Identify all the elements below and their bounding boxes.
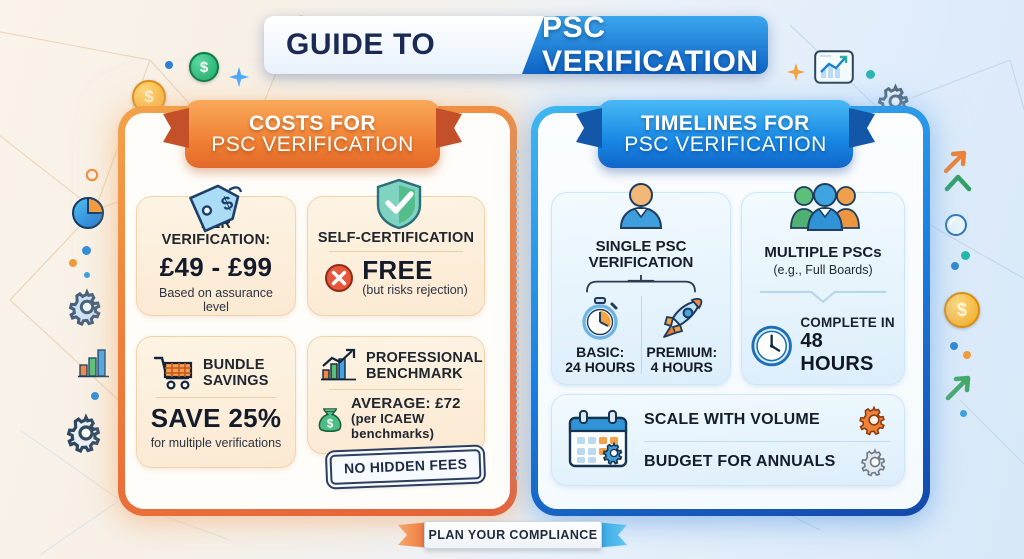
green-dollar-coin-icon: $ [189, 52, 219, 82]
timelines-ribbon: TIMELINES FOR PSC VERIFICATION [598, 100, 853, 168]
basic-label-line1: BASIC: [576, 345, 624, 361]
growth-chart-icon [318, 348, 360, 384]
bundle-savings-sub: for multiple verifications [151, 436, 282, 450]
gray-gear-icon [860, 447, 890, 477]
blue-dot-icon [165, 61, 173, 69]
circle-icon [944, 213, 968, 237]
title-right-segment: PSC VERIFICATION [522, 16, 768, 74]
bundle-savings-heading: BUNDLE SAVINGS [203, 357, 279, 389]
bundle-savings-value: SAVE 25% [151, 403, 282, 434]
ribbon-tail-right [436, 108, 462, 148]
red-x-icon [324, 263, 354, 293]
clock-icon [750, 323, 793, 369]
teal-dot-icon [961, 251, 970, 260]
down-brace-icon [755, 289, 891, 305]
single-psc-card[interactable]: SINGLE PSC VERIFICATION BASIC: 24 HOURS [551, 192, 731, 385]
cost-card-self-certification[interactable]: SELF-CERTIFICATION FREE (but risks rejec… [307, 196, 485, 316]
timelines-ribbon-line2: PSC VERIFICATION [624, 134, 826, 155]
footer-ribbon: PLAN YOUR COMPLIANCE [424, 521, 602, 549]
single-psc-heading-line1: SINGLE PSC [596, 239, 687, 255]
gear-icon [68, 288, 106, 326]
per-verification-heading: PER VERIFICATION: [145, 216, 287, 248]
professional-benchmark-sub: (per ICAEW benchmarks) [351, 412, 476, 441]
ribbon-tail-left [576, 108, 602, 148]
cost-card-bundle-savings[interactable]: BUNDLE SAVINGS SAVE 25% for multiple ver… [136, 336, 296, 468]
page-title: GUIDE TO PSC VERIFICATION [264, 16, 768, 74]
chart-frame-icon [814, 50, 854, 84]
calendar-icon [566, 409, 632, 471]
orange-dot-icon [69, 259, 77, 267]
pie-chart-icon [68, 191, 108, 231]
ribbon-tail-right [849, 108, 875, 148]
no-hidden-fees-label: NO HIDDEN FEES [344, 456, 468, 477]
bar-chart-icon [76, 345, 112, 379]
timelines-ribbon-line1: TIMELINES FOR [641, 113, 810, 134]
card-divider [329, 251, 463, 252]
panel-divider [516, 150, 519, 480]
sparkle-icon [786, 62, 806, 82]
card-divider [156, 397, 275, 398]
scale-budget-card[interactable]: SCALE WITH VOLUME BUDGET FOR ANNUALS [551, 394, 905, 486]
multiple-pscs-sub: (e.g., Full Boards) [773, 263, 872, 277]
orange-dot-icon [963, 351, 971, 359]
orange-ring-icon [85, 168, 99, 182]
basic-label-line2: 24 HOURS [565, 360, 635, 376]
split-brace-icon [566, 275, 716, 293]
self-certification-sub: (but risks rejection) [362, 283, 468, 297]
self-certification-value: FREE [362, 257, 468, 283]
multiple-pscs-card[interactable]: MULTIPLE PSCs (e.g., Full Boards) COMPLE… [741, 192, 905, 385]
money-bag-icon: $ [316, 400, 344, 438]
budget-for-annuals-label: BUDGET FOR ANNUALS [644, 453, 835, 470]
stopwatch-icon [577, 296, 623, 342]
single-psc-heading-line2: VERIFICATION [589, 255, 694, 271]
title-left-segment: GUIDE TO [264, 16, 546, 74]
complete-in-value: 48 HOURS [800, 330, 896, 376]
card-divider [329, 389, 463, 390]
orange-gear-icon [858, 404, 890, 436]
chevron-up-icon [944, 172, 972, 192]
costs-ribbon-line1: COSTS FOR [249, 113, 376, 134]
teal-dot-icon [866, 70, 875, 79]
costs-ribbon-line2: PSC VERIFICATION [211, 134, 413, 155]
blue-dot-icon [960, 410, 967, 417]
cost-card-per-verification[interactable]: PER VERIFICATION: £49 - £99 Based on ass… [136, 196, 296, 316]
infographic-canvas: GUIDE TO PSC VERIFICATION $ $ [0, 0, 1024, 559]
title-left-text: GUIDE TO [286, 28, 435, 62]
footer-label: PLAN YOUR COMPLIANCE [429, 528, 598, 542]
premium-label-line2: 4 HOURS [651, 360, 713, 376]
blue-dot-icon [951, 262, 959, 270]
blue-dot-icon [84, 272, 90, 278]
title-right-text: PSC VERIFICATION [542, 11, 768, 79]
up-arrow-icon [942, 147, 970, 175]
per-verification-sub: Based on assurance level [145, 286, 287, 315]
up-arrow-icon [944, 372, 974, 402]
costs-ribbon: COSTS FOR PSC VERIFICATION [185, 100, 440, 168]
blue-dot-icon [91, 392, 99, 400]
professional-benchmark-heading: PROFESSIONAL BENCHMARK [366, 350, 474, 382]
sparkle-icon [228, 66, 250, 88]
svg-text:$: $ [327, 417, 334, 430]
multiple-pscs-heading: MULTIPLE PSCs [764, 245, 881, 261]
shopping-cart-icon [153, 354, 197, 392]
rocket-icon [659, 296, 705, 342]
complete-in-label: COMPLETE IN [800, 315, 896, 330]
per-verification-value: £49 - £99 [160, 252, 273, 283]
ribbon-tail-left [163, 108, 189, 148]
blue-dot-icon [82, 246, 91, 255]
blue-dot-icon [950, 342, 958, 350]
professional-benchmark-value: AVERAGE: £72 [351, 395, 476, 412]
cost-card-professional-benchmark[interactable]: PROFESSIONAL BENCHMARK $ AVERAGE: £72 (p… [307, 336, 485, 454]
no-hidden-fees-stamp: NO HIDDEN FEES [329, 449, 481, 485]
scale-with-volume-label: SCALE WITH VOLUME [644, 411, 820, 428]
premium-label-line1: PREMIUM: [646, 345, 717, 361]
gold-coin-icon: $ [944, 292, 980, 328]
self-certification-heading: SELF-CERTIFICATION [318, 230, 474, 246]
gear-icon [66, 413, 106, 453]
